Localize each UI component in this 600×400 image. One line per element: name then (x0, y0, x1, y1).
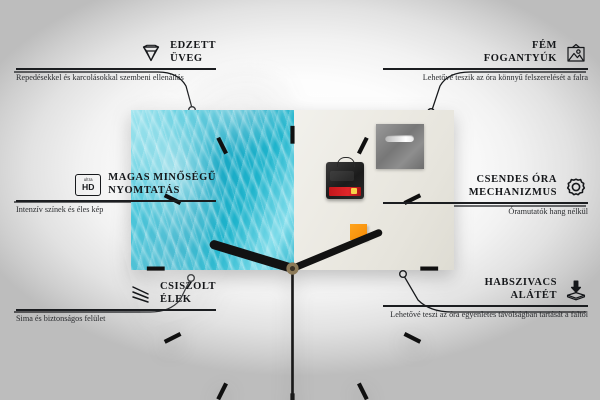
ultra-hd-icon: ultra HD (75, 174, 101, 196)
feature-metal-handles: FÉM FOGANTYÚK Lehetővé teszik az óra kön… (383, 40, 588, 83)
feature-tempered-glass: EDZETT ÜVEG Repedésekkel és karcolásokka… (16, 40, 216, 83)
feature-foam-pad: HABSZIVACS ALÁTÉT Lehetővé teszi az óra … (383, 277, 588, 320)
divider (16, 309, 216, 311)
picture-hanger-icon (564, 42, 588, 64)
polished-edges-icon (129, 283, 153, 305)
feature-title: MAGAS MINŐSÉGŰ NYOMTATÁS (108, 172, 216, 197)
divider (16, 200, 216, 202)
feature-hd-print: ultra HD MAGAS MINŐSÉGŰ NYOMTATÁS Intenz… (16, 172, 216, 215)
feature-polished-edges: CSISZOLT ÉLEK Sima és biztonságos felüle… (16, 281, 216, 324)
feature-description: Sima és biztonságos felület (16, 314, 216, 324)
feature-title: EDZETT ÜVEG (170, 40, 216, 65)
feature-quiet-mechanism: CSENDES ÓRA MECHANIZMUS Óramutatók hang … (383, 174, 588, 217)
divider (383, 68, 588, 70)
feature-description: Repedésekkel és karcolásokkal szembeni e… (16, 73, 216, 83)
diamond-icon (139, 42, 163, 64)
divider (16, 68, 216, 70)
feature-title: HABSZIVACS ALÁTÉT (485, 277, 557, 302)
foam-pad-icon (564, 279, 588, 301)
feature-title: CSISZOLT ÉLEK (160, 281, 216, 306)
divider (383, 305, 588, 307)
feature-description: Óramutatók hang nélkül (383, 207, 588, 217)
divider (383, 202, 588, 204)
feature-description: Lehetővé teszik az óra könnyű felszerelé… (383, 73, 588, 83)
feature-description: Intenzív színek és éles kép (16, 205, 216, 215)
gear-icon (564, 176, 588, 198)
feature-description: Lehetővé teszi az óra egyenletes távolsá… (383, 310, 588, 320)
feature-title: CSENDES ÓRA MECHANIZMUS (469, 174, 557, 199)
feature-title: FÉM FOGANTYÚK (484, 40, 557, 65)
infographic-canvas: EDZETT ÜVEG Repedésekkel és karcolásokka… (0, 0, 600, 400)
clock-face (131, 110, 454, 400)
